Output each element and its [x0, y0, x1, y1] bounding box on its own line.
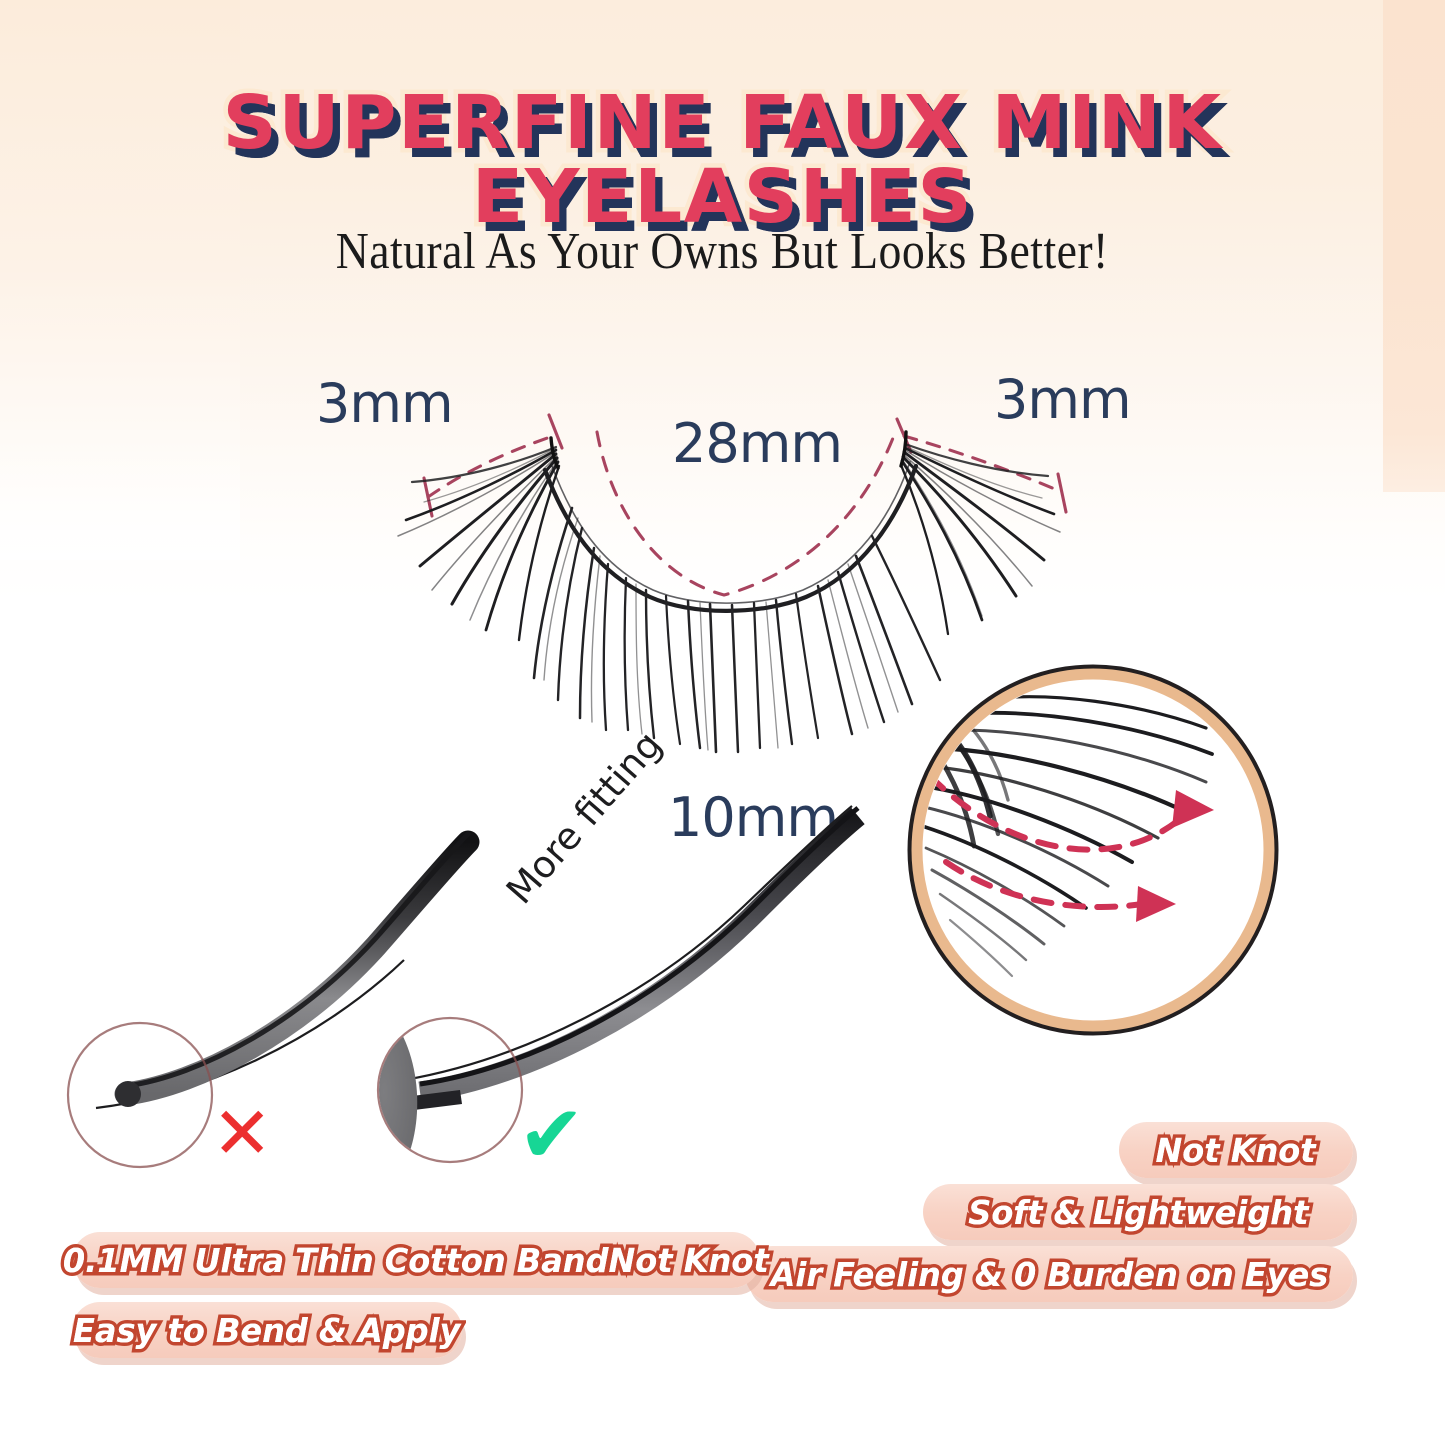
badge-cotton-band-label-overlay: 0.1MM Ultra Thin Cotton BandNot Knot: [63, 1241, 769, 1280]
badge-air-feeling-label-overlay: Air Feeling & 0 Burden on Eyes: [770, 1255, 1328, 1294]
zoom-circle-lash-detail: [910, 667, 1276, 1033]
cross-icon: ✕: [212, 1091, 272, 1175]
badge-cotton-band[interactable]: 0.1MM Ultra Thin Cotton BandNot Knot 0.1…: [72, 1232, 760, 1288]
badge-not-knot[interactable]: Not Knot Not Knot: [1119, 1122, 1353, 1178]
badge-not-knot-label-overlay: Not Knot: [1156, 1131, 1316, 1170]
badge-soft-lightweight[interactable]: Soft & Lightweight Soft & Lightweight: [923, 1184, 1353, 1240]
badge-soft-lightweight-label-overlay: Soft & Lightweight: [968, 1193, 1308, 1232]
badge-easy-bend-label-overlay: Easy to Bend & Apply: [73, 1311, 460, 1350]
badge-easy-bend[interactable]: Easy to Bend & Apply Easy to Bend & Appl…: [72, 1302, 462, 1358]
eyelash-strip-illustration: [398, 432, 1060, 752]
infographic-canvas: SUPERFINE FAUX MINK EYELASHES Natural As…: [0, 0, 1445, 1445]
badge-air-feeling[interactable]: Air Feeling & 0 Burden on Eyes Air Feeli…: [745, 1246, 1353, 1302]
check-icon: ✔: [518, 1088, 585, 1181]
